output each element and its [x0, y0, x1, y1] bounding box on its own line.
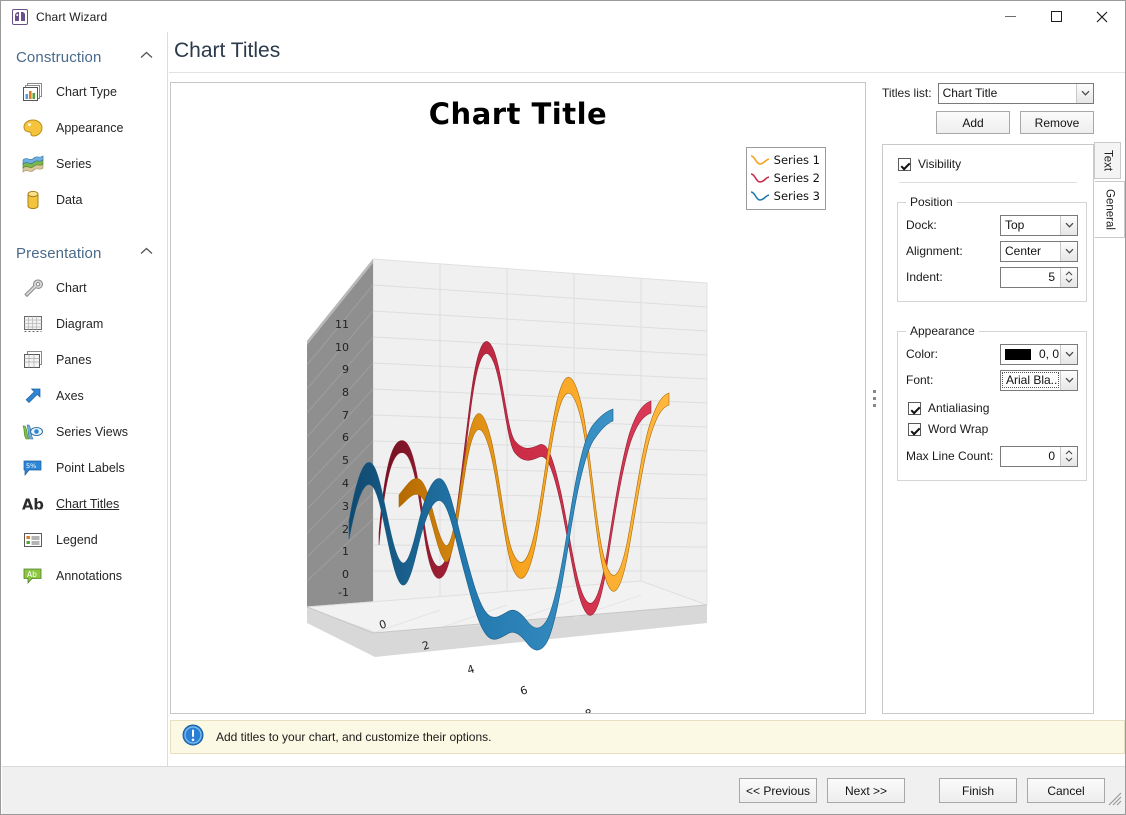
sidebar-item-point-labels[interactable]: 5% Point Labels	[2, 450, 167, 486]
font-combobox[interactable]: Arial Bla...	[1000, 370, 1078, 391]
svg-text:8: 8	[584, 706, 595, 714]
max-line-count-value[interactable]: 0	[1001, 449, 1060, 463]
legend-item: Series 2	[750, 169, 820, 187]
series-icon	[22, 153, 44, 175]
ab-text-icon: Ab	[22, 493, 44, 515]
properties-panel: Titles list: Chart Title Add Remove Visi…	[882, 82, 1094, 714]
chart-wizard-window: Chart Wizard Construction	[0, 0, 1126, 815]
alignment-label: Alignment:	[906, 244, 1000, 258]
axes-arrow-icon	[22, 385, 44, 407]
font-label: Font:	[906, 373, 1000, 387]
dock-value: Top	[1001, 218, 1060, 232]
legend-item: Series 3	[750, 187, 820, 205]
chart-wizard-icon	[12, 9, 28, 25]
add-button[interactable]: Add	[936, 111, 1010, 134]
next-button[interactable]: Next >>	[827, 778, 905, 803]
chart-legend[interactable]: Series 1 Series 2 Series 3	[746, 147, 826, 210]
word-wrap-checkbox-row[interactable]: Word Wrap	[908, 422, 1078, 436]
legend-icon	[22, 529, 44, 551]
chevron-up-icon	[140, 247, 153, 258]
sidebar-group-presentation[interactable]: Presentation	[2, 236, 167, 270]
svg-text:5%: 5%	[26, 462, 36, 470]
resize-grip-icon[interactable]	[1108, 792, 1122, 811]
sidebar-item-axes[interactable]: Axes	[2, 378, 167, 414]
position-group: Position Dock: Top Alignment: Center	[897, 195, 1087, 302]
word-wrap-checkbox[interactable]	[908, 423, 921, 436]
sidebar-item-panes[interactable]: Panes	[2, 342, 167, 378]
visibility-label: Visibility	[918, 157, 961, 171]
sidebar-item-label: Annotations	[56, 569, 122, 583]
antialiasing-label: Antialiasing	[928, 401, 989, 415]
alignment-combobox[interactable]: Center	[1000, 241, 1078, 262]
legend-line-icon	[750, 153, 770, 167]
svg-text:9: 9	[342, 363, 349, 376]
word-wrap-label: Word Wrap	[928, 422, 988, 436]
title-divider	[169, 72, 1125, 73]
database-icon	[22, 189, 44, 211]
general-tab-page: Visibility Position Dock: Top Alignment:	[882, 144, 1094, 714]
svg-text:4: 4	[342, 477, 349, 490]
color-label: Color:	[906, 347, 1000, 361]
sidebar-item-series-views[interactable]: Series Views	[2, 414, 167, 450]
svg-text:6: 6	[342, 431, 349, 444]
legend-label: Series 1	[774, 153, 820, 167]
sidebar-item-chart[interactable]: Chart	[2, 270, 167, 306]
color-swatch	[1005, 349, 1031, 360]
chevron-down-icon[interactable]	[1060, 371, 1077, 390]
sidebar-group-construction[interactable]: Construction	[2, 40, 167, 74]
sidebar-item-label: Panes	[56, 353, 91, 367]
svg-text:8: 8	[342, 386, 349, 399]
legend-line-icon	[750, 189, 770, 203]
font-row: Font: Arial Bla...	[906, 368, 1078, 392]
sidebar-item-label: Chart	[56, 281, 87, 295]
sidebar-item-diagram[interactable]: Diagram	[2, 306, 167, 342]
antialiasing-checkbox-row[interactable]: Antialiasing	[908, 401, 1078, 415]
page-title: Chart Titles	[174, 39, 280, 63]
tab-text[interactable]: Text	[1094, 142, 1121, 179]
sidebar-item-chart-titles[interactable]: Ab Chart Titles	[2, 486, 167, 522]
sidebar-item-label: Series Views	[56, 425, 128, 439]
titles-list-value: Chart Title	[939, 86, 1076, 100]
svg-text:1: 1	[342, 545, 349, 558]
legend-label: Series 2	[774, 171, 820, 185]
appearance-group-label: Appearance	[906, 324, 979, 338]
finish-button[interactable]: Finish	[939, 778, 1017, 803]
indent-row: Indent: 5	[906, 265, 1078, 289]
annotation-icon: Ab	[22, 565, 44, 587]
max-line-count-row: Max Line Count: 0	[906, 444, 1078, 468]
sidebar-item-label: Appearance	[56, 121, 123, 135]
titles-list-label: Titles list:	[882, 86, 932, 100]
minimize-button[interactable]	[987, 2, 1033, 32]
sidebar-item-label: Diagram	[56, 317, 103, 331]
svg-text:-1: -1	[338, 586, 349, 599]
sidebar-item-annotations[interactable]: Ab Annotations	[2, 558, 167, 594]
chevron-down-icon	[1065, 457, 1073, 462]
wrench-icon	[22, 277, 44, 299]
tab-general-label: General	[1104, 182, 1116, 237]
indent-label: Indent:	[906, 270, 1000, 284]
antialiasing-checkbox[interactable]	[908, 402, 921, 415]
svg-text:0: 0	[342, 568, 349, 581]
appearance-group: Appearance Color: 0, 0, Font:	[897, 324, 1087, 481]
series-views-icon	[22, 421, 44, 443]
svg-text:Ab: Ab	[22, 497, 44, 514]
sidebar-item-label: Chart Titles	[56, 497, 119, 511]
indent-spinner[interactable]: 5	[1000, 267, 1078, 288]
dock-label: Dock:	[906, 218, 1000, 232]
sidebar-item-label: Axes	[56, 389, 84, 403]
chevron-down-icon[interactable]	[1076, 84, 1093, 103]
remove-button[interactable]: Remove	[1020, 111, 1094, 134]
svg-text:2: 2	[342, 523, 349, 536]
chevron-down-icon[interactable]	[1060, 345, 1077, 364]
svg-text:10: 10	[335, 341, 349, 354]
chevron-up-icon	[1065, 271, 1073, 276]
color-value: 0, 0,	[1035, 347, 1060, 361]
visibility-checkbox[interactable]	[898, 158, 911, 171]
chevron-down-icon[interactable]	[1060, 216, 1077, 235]
sidebar-item-chart-type[interactable]: Chart Type	[2, 74, 167, 110]
sidebar-item-label: Point Labels	[56, 461, 125, 475]
chevron-up-icon	[140, 51, 153, 62]
chart-preview-panel[interactable]: Chart Title	[170, 82, 866, 714]
legend-label: Series 3	[774, 189, 820, 203]
sidebar-group-label: Construction	[16, 49, 140, 66]
splitter-grip-icon	[873, 390, 876, 407]
legend-line-icon	[750, 171, 770, 185]
svg-text:Ab: Ab	[27, 570, 37, 579]
sidebar-item-label: Data	[56, 193, 82, 207]
sidebar: Construction Chart Type	[2, 32, 168, 777]
panes-icon	[22, 349, 44, 371]
svg-text:5: 5	[342, 454, 349, 467]
max-line-count-spinner[interactable]: 0	[1000, 446, 1078, 467]
close-icon	[1096, 11, 1108, 23]
info-icon	[182, 724, 204, 751]
position-group-label: Position	[906, 195, 957, 209]
panel-splitter[interactable]	[867, 82, 881, 714]
spinner-buttons[interactable]	[1060, 268, 1077, 287]
alignment-row: Alignment: Center	[906, 239, 1078, 263]
info-message: Add titles to your chart, and customize …	[216, 730, 491, 744]
tab-general[interactable]: General	[1094, 181, 1125, 238]
previous-button[interactable]: << Previous	[739, 778, 817, 803]
svg-text:4: 4	[466, 662, 477, 677]
sidebar-item-appearance[interactable]: Appearance	[2, 110, 167, 146]
chart-type-icon	[22, 81, 44, 103]
sidebar-item-data[interactable]: Data	[2, 182, 167, 218]
titles-list-combobox[interactable]: Chart Title	[938, 83, 1094, 104]
section-divider	[899, 182, 1077, 183]
svg-text:7: 7	[342, 409, 349, 422]
window-title: Chart Wizard	[36, 10, 107, 24]
maximize-button[interactable]	[1033, 2, 1079, 32]
font-value: Arial Bla...	[1002, 372, 1059, 388]
sidebar-item-label: Chart Type	[56, 85, 117, 99]
visibility-checkbox-row[interactable]: Visibility	[898, 157, 1093, 171]
properties-vertical-tabs: Text General	[1094, 142, 1125, 238]
titles-actions: Add Remove	[882, 111, 1094, 134]
sidebar-group-label: Presentation	[16, 245, 140, 262]
color-row: Color: 0, 0,	[906, 342, 1078, 366]
palette-icon	[22, 117, 44, 139]
tab-text-label: Text	[1102, 143, 1114, 178]
close-button[interactable]	[1079, 2, 1125, 32]
alignment-value: Center	[1001, 244, 1060, 258]
titles-list-row: Titles list: Chart Title	[882, 82, 1094, 104]
dock-combobox[interactable]: Top	[1000, 215, 1078, 236]
svg-text:6: 6	[519, 683, 530, 698]
sidebar-item-label: Legend	[56, 533, 98, 547]
sidebar-item-legend[interactable]: Legend	[2, 522, 167, 558]
svg-text:3: 3	[342, 500, 349, 513]
info-bar: Add titles to your chart, and customize …	[170, 720, 1125, 754]
chevron-up-icon	[1065, 450, 1073, 455]
chevron-down-icon[interactable]	[1060, 242, 1077, 261]
spinner-buttons[interactable]	[1060, 447, 1077, 466]
cancel-button[interactable]: Cancel	[1027, 778, 1105, 803]
sidebar-item-label: Series	[56, 157, 91, 171]
indent-value[interactable]: 5	[1001, 270, 1060, 284]
sidebar-item-series[interactable]: Series	[2, 146, 167, 182]
color-combobox[interactable]: 0, 0,	[1000, 344, 1078, 365]
max-line-count-label: Max Line Count:	[906, 449, 1000, 463]
chevron-down-icon	[1065, 278, 1073, 283]
point-labels-icon: 5%	[22, 457, 44, 479]
color-value-wrap: 0, 0,	[1001, 347, 1060, 361]
svg-text:11: 11	[335, 318, 349, 331]
legend-item: Series 1	[750, 151, 820, 169]
title-bar: Chart Wizard	[1, 1, 1125, 32]
dock-row: Dock: Top	[906, 213, 1078, 237]
diagram-icon	[22, 313, 44, 335]
wizard-footer: << Previous Next >> Finish Cancel	[2, 766, 1125, 814]
